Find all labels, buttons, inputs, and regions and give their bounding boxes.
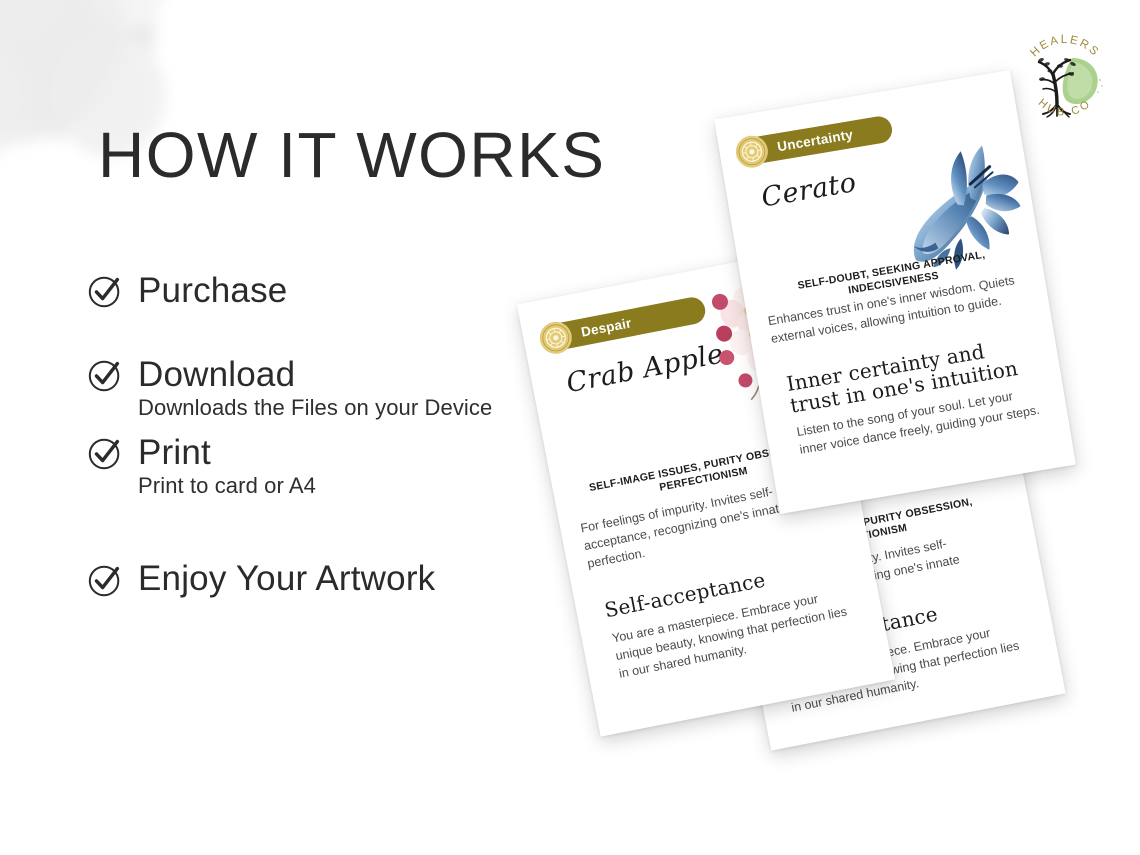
steps-list: Purchase Download Downloads the Files on… bbox=[86, 272, 566, 603]
svg-text:HUB CO: HUB CO bbox=[1036, 97, 1094, 119]
card-category-badge[interactable]: Uncertainty bbox=[742, 114, 894, 165]
step-title: Purchase bbox=[138, 273, 287, 310]
card-category-label: Uncertainty bbox=[776, 127, 854, 154]
step-subtitle: Print to card or A4 bbox=[138, 473, 566, 498]
page-title: HOW IT WORKS bbox=[98, 118, 605, 192]
check-circle-icon bbox=[86, 434, 124, 472]
step-download: Download Downloads the Files on your Dev… bbox=[86, 356, 566, 420]
step-enjoy: Enjoy Your Artwork bbox=[86, 561, 566, 599]
brand-logo: HEALERS HUB CO bbox=[1012, 22, 1118, 128]
check-circle-icon bbox=[86, 356, 124, 394]
remedy-card-cerato[interactable]: Uncertainty Cerato bbox=[714, 70, 1076, 514]
mandala-emblem-icon bbox=[536, 317, 576, 357]
card-remedy-name: Crab Apple bbox=[564, 338, 726, 399]
brand-name-top: HEALERS bbox=[1028, 34, 1101, 59]
check-circle-icon bbox=[86, 561, 124, 599]
step-purchase: Purchase bbox=[86, 272, 566, 310]
slide-canvas: HOW IT WORKS bbox=[0, 0, 1140, 855]
step-title: Download bbox=[138, 357, 295, 394]
card-category-badge[interactable]: Despair bbox=[545, 295, 707, 352]
card-remedy-name: Cerato bbox=[759, 167, 859, 213]
svg-text:HEALERS: HEALERS bbox=[1028, 34, 1101, 59]
card-category-label: Despair bbox=[580, 315, 633, 339]
brand-name-bottom: HUB CO bbox=[1036, 97, 1094, 119]
step-title: Print bbox=[138, 435, 211, 472]
step-title: Enjoy Your Artwork bbox=[138, 561, 435, 598]
check-circle-icon bbox=[86, 272, 124, 310]
step-subtitle: Downloads the Files on your Device bbox=[138, 395, 566, 420]
mandala-emblem-icon bbox=[732, 132, 771, 171]
step-print: Print Print to card or A4 bbox=[86, 434, 566, 498]
